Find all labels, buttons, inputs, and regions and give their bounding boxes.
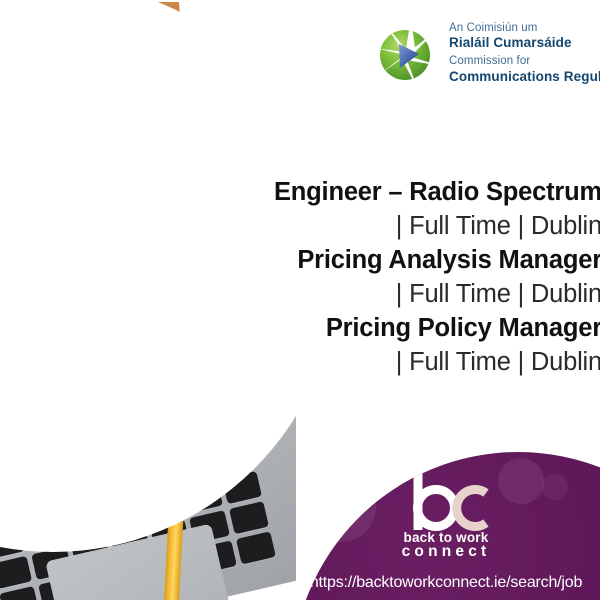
- back-to-work-connect-badge: back to work connect https://backtoworkc…: [292, 452, 600, 600]
- job-meta: | Full Time | Dublin: [182, 278, 600, 312]
- job-meta: | Full Time | Dublin: [182, 210, 600, 244]
- job-title: Pricing Policy Manager: [182, 312, 600, 346]
- comreg-line-irish-bold: Rialáil Cumarsáide: [449, 35, 600, 51]
- job-title: Engineer – Radio Spectrum: [182, 176, 600, 210]
- comreg-line-irish-light: An Coimisiún um: [449, 22, 600, 36]
- white-top-edge: [0, 0, 600, 2]
- job-listings: Engineer – Radio Spectrum | Full Time | …: [182, 176, 600, 379]
- comreg-sphere-icon: [375, 14, 441, 92]
- comreg-wordmark: An Coimisiún um Rialáil Cumarsáide Commi…: [449, 22, 600, 85]
- job-meta: | Full Time | Dublin: [182, 346, 600, 380]
- comreg-logo: An Coimisiún um Rialáil Cumarsáide Commi…: [375, 14, 600, 92]
- job-title: Pricing Analysis Manager: [182, 244, 600, 278]
- badge-tagline-line2: connect: [292, 543, 600, 561]
- comreg-line-english-light: Commission for: [449, 55, 600, 69]
- social-post-canvas: - 0 O P: [0, 0, 600, 600]
- badge-url[interactable]: https://backtoworkconnect.ie/search/job: [292, 574, 600, 592]
- badge-content: back to work connect https://backtoworkc…: [292, 452, 600, 592]
- comreg-line-english-bold: Communications Regulation: [449, 69, 600, 85]
- bc-monogram-icon: [394, 466, 498, 532]
